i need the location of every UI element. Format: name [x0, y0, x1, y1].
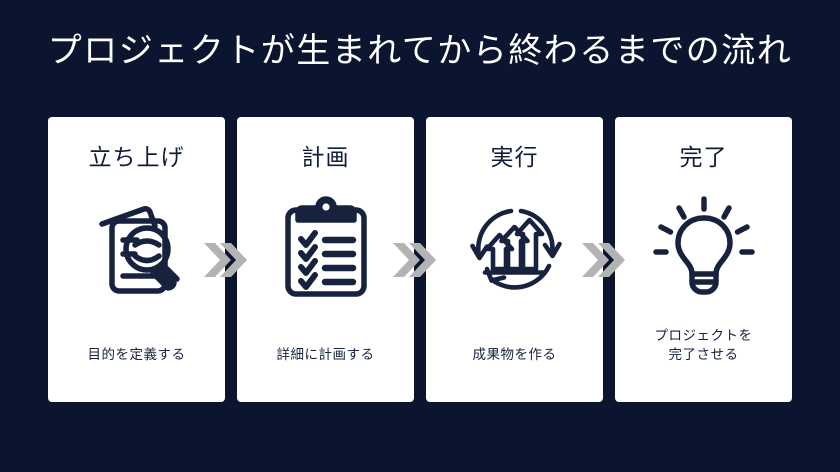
step-card-execution[interactable]: 実行 成果物を作る [426, 117, 603, 402]
slide-root: プロジェクトが生まれてから終わるまでの流れ 立ち上げ [0, 0, 840, 472]
step-heading: 実行 [491, 144, 539, 172]
step-heading: 立ち上げ [89, 144, 185, 172]
document-magnifier-icon [81, 192, 193, 304]
step-caption-line-1: プロジェクトを [615, 326, 792, 345]
process-steps-row: 立ち上げ 目的を定義する 計 [48, 117, 792, 402]
step-heading: 計画 [302, 144, 350, 172]
lightbulb-icon [648, 192, 760, 304]
step-caption: 成果物を作る [426, 345, 603, 364]
step-heading: 完了 [680, 144, 728, 172]
step-card-planning[interactable]: 計画 詳細に計画する [237, 117, 414, 402]
clipboard-checklist-icon [270, 192, 382, 304]
step-caption: 詳細に計画する [237, 345, 414, 364]
step-card-initiation[interactable]: 立ち上げ 目的を定義する [48, 117, 225, 402]
growth-cycle-arrows-icon [459, 192, 571, 304]
step-caption-line-2: 完了させる [615, 345, 792, 364]
step-caption-line-1: 目的を定義する [48, 345, 225, 364]
step-caption: プロジェクトを 完了させる [615, 326, 792, 364]
step-card-completion[interactable]: 完了 プロジェクトを 完了させる [615, 117, 792, 402]
step-caption-line-1: 成果物を作る [426, 345, 603, 364]
page-title: プロジェクトが生まれてから終わるまでの流れ [0, 28, 840, 76]
step-caption-line-1: 詳細に計画する [237, 345, 414, 364]
step-caption: 目的を定義する [48, 345, 225, 364]
